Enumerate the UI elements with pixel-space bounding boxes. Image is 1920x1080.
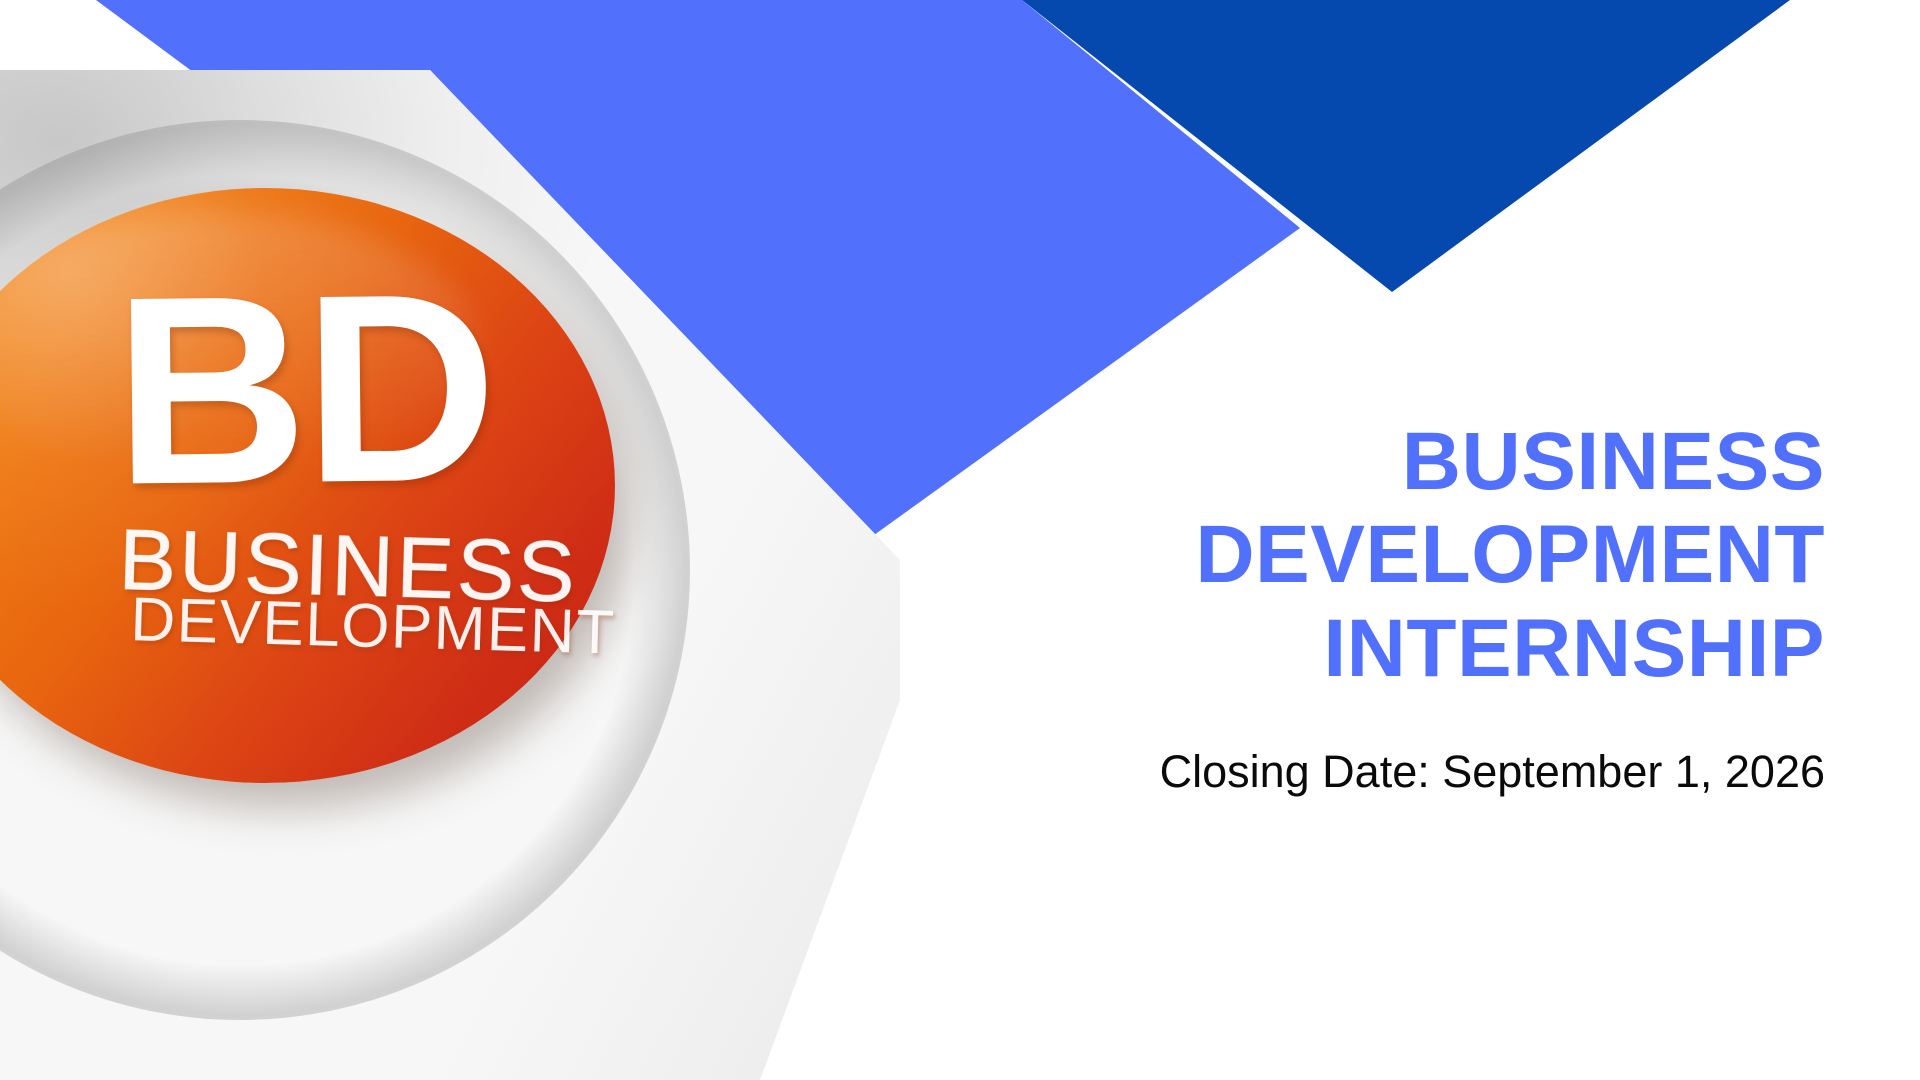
badge-text-group: BD BUSINESS DEVELOPMENT — [0, 184, 618, 786]
slide-title: Business Development Internship — [895, 415, 1825, 695]
badge-initials: BD — [113, 270, 495, 510]
bd-badge-circle: BD BUSINESS DEVELOPMENT — [0, 188, 615, 783]
slide-canvas: BD BUSINESS DEVELOPMENT Business Develop… — [0, 0, 1920, 1080]
badge-word-development: DEVELOPMENT — [130, 584, 617, 669]
closing-date-text: Closing Date: September 1, 2026 — [895, 745, 1825, 799]
business-development-logo-photo: BD BUSINESS DEVELOPMENT — [0, 0, 900, 1080]
title-text-block: Business Development Internship Closing … — [895, 415, 1825, 799]
dark-blue-diagonal-shape — [1022, 0, 1790, 292]
